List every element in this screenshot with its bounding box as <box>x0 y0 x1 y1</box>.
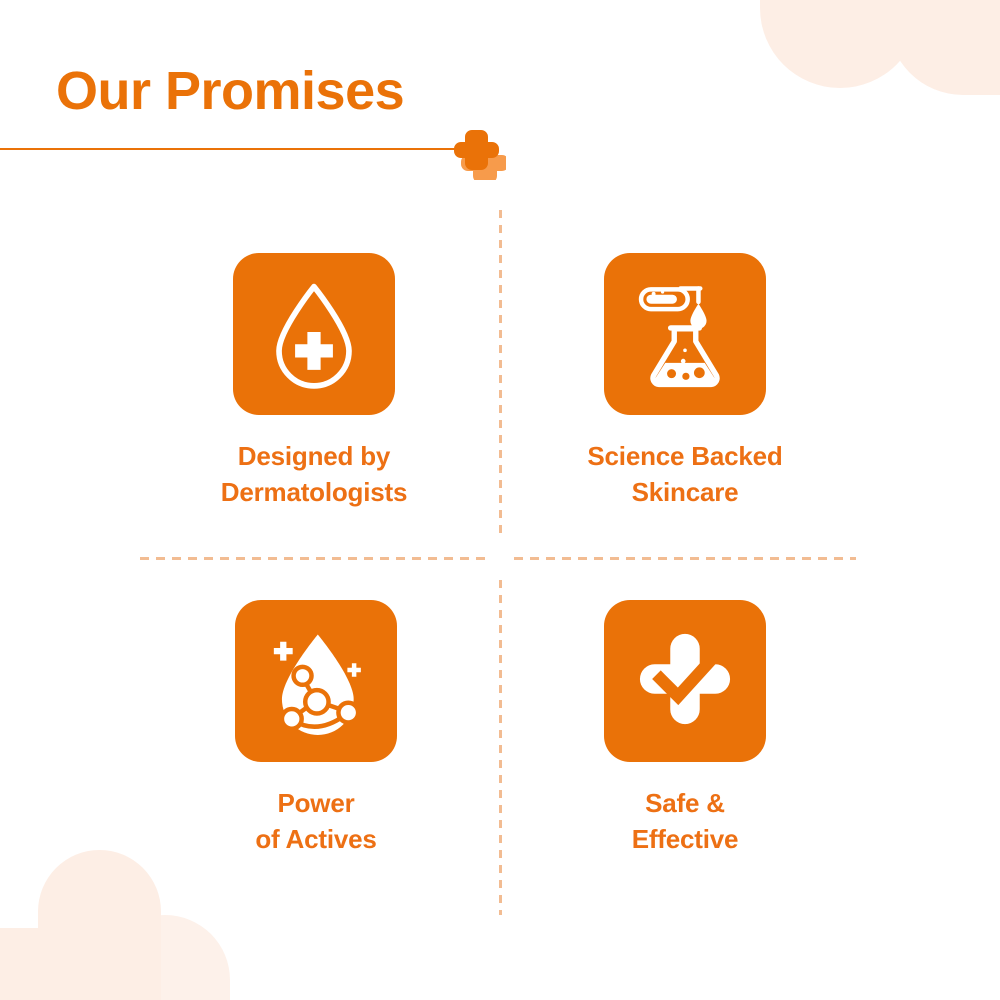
droplet-with-molecule-icon <box>262 622 370 740</box>
promise-item-designed-by-dermatologists[interactable]: Designed by Dermatologists <box>124 253 504 511</box>
page-header: Our Promises <box>0 60 520 122</box>
icon-tile <box>604 253 766 415</box>
icon-tile <box>233 253 395 415</box>
plus-cross-icon <box>452 126 506 180</box>
promise-label: Designed by Dermatologists <box>221 439 407 511</box>
icon-tile <box>604 600 766 762</box>
blob-bottom-left-band <box>0 928 90 1000</box>
blob-top-right-2 <box>888 0 1000 95</box>
title-underline <box>0 148 455 150</box>
page-title: Our Promises <box>0 60 520 122</box>
flask-with-dropper-icon <box>632 275 738 393</box>
cross-with-checkmark-icon <box>633 627 737 736</box>
promise-label: Power of Actives <box>255 786 376 858</box>
divider-horizontal-right <box>514 557 856 560</box>
promise-label: Science Backed Skincare <box>587 439 782 511</box>
blob-top-right-1 <box>760 0 920 88</box>
promise-item-safe-and-effective[interactable]: Safe & Effective <box>495 600 875 858</box>
promise-label: Safe & Effective <box>632 786 739 858</box>
droplet-with-medical-cross-icon <box>262 275 366 394</box>
promises-grid: Designed by Dermatologists <box>0 205 1000 915</box>
divider-horizontal-left <box>140 557 488 560</box>
promise-item-science-backed-skincare[interactable]: Science Backed Skincare <box>495 253 875 511</box>
blob-bottom-left-arc <box>100 915 230 1000</box>
icon-tile <box>235 600 397 762</box>
promise-item-power-of-actives[interactable]: Power of Actives <box>126 600 506 858</box>
